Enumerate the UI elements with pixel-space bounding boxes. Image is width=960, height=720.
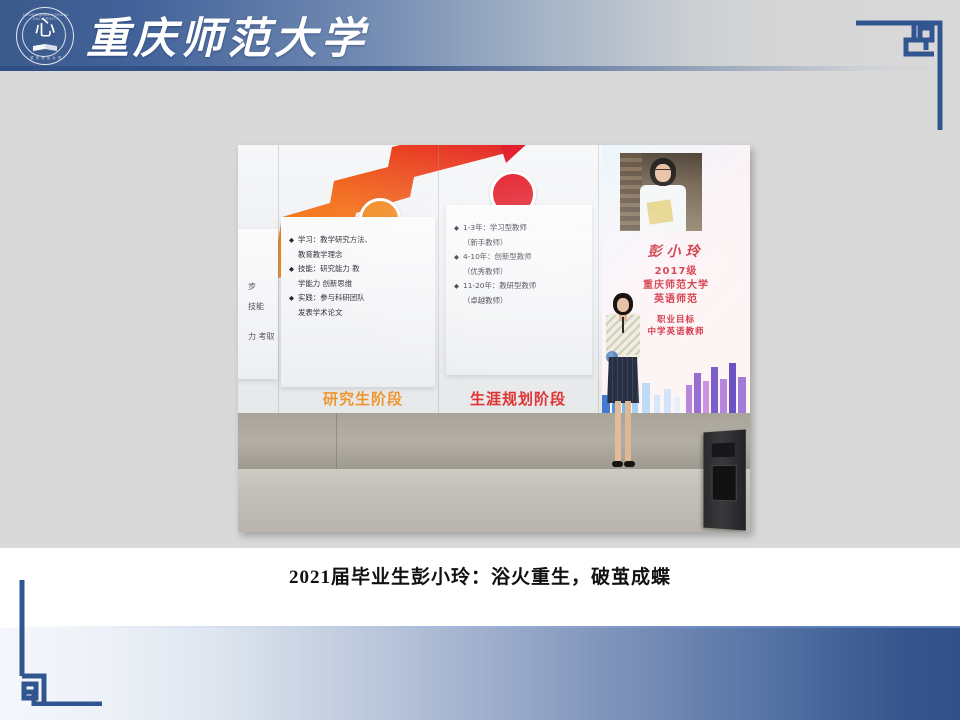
profile-name: 彭小玲: [602, 241, 750, 261]
glasses-icon: [655, 169, 671, 174]
slide-footer: [0, 628, 960, 720]
card-bullet: ◆ 技能：研究能力 教: [289, 262, 427, 276]
card-career-planning-stage: ◆ 1-3年：学习型教师 （新手教师） ◆ 4-10年：创新型教师 （优秀教师）…: [446, 205, 592, 375]
card-bullet-text: 4-10年：创新型教师: [463, 250, 584, 264]
stage-wall: [238, 413, 750, 469]
microphone-icon: [622, 317, 624, 333]
page-title: 重庆师范大学: [86, 4, 368, 66]
card-bullet-continuation: 发表学术论文: [289, 306, 427, 320]
presentation-photo: 步 技能 力 考取 ◆ 学习：教学研究方法、 教育教学理念 ◆ 技能：研究能: [238, 145, 750, 532]
stage-wall-seam: [336, 413, 337, 469]
card-graduate-stage: ◆ 学习：教学研究方法、 教育教学理念 ◆ 技能：研究能力 教 学能力 创新思维…: [281, 217, 435, 387]
diamond-bullet-icon: ◆: [289, 262, 298, 276]
greek-key-corner-icon: [854, 10, 946, 138]
speaker-port: [712, 442, 735, 457]
presentation-slide: CHONGQING NORMAL UNIVERSITY 重 庆 师 范 大 学 …: [0, 0, 960, 720]
stage-label-career: 生涯规划阶段: [470, 388, 566, 409]
card-bullet-text: 技能：研究能力 教: [298, 262, 427, 276]
profile-enrollment-year: 2017级: [602, 262, 750, 277]
held-book-icon: [647, 199, 674, 224]
diamond-bullet-icon: ◆: [289, 233, 298, 247]
bookshelf-backdrop: [620, 153, 642, 231]
presenter-leg-right: [625, 401, 631, 463]
presenter-shoe-left: [612, 461, 623, 467]
diamond-bullet-icon: ◆: [454, 221, 463, 235]
card-bullet: ◆ 11-20年：教研型教师: [454, 279, 584, 293]
stage-floor: [238, 469, 750, 532]
caption-area: 2021届毕业生彭小玲：浴火重生，破茧成蝶: [0, 554, 960, 626]
card-bullet-text: 实践：参与科研团队: [298, 291, 427, 305]
stage-label-graduate: 研究生阶段: [323, 388, 403, 409]
speaker-grill: [712, 465, 737, 502]
card-bullet: ◆ 实践：参与科研团队: [289, 291, 427, 305]
presenter-figure: [593, 293, 653, 493]
diamond-bullet-icon: ◆: [454, 250, 463, 264]
presenter-face: [617, 298, 629, 312]
slide-caption: 2021届毕业生彭小玲：浴火重生，破茧成蝶: [0, 562, 960, 589]
seal-emblem-glyph: 心: [23, 18, 67, 39]
diamond-bullet-icon: ◆: [289, 291, 298, 305]
card-bullet: ◆ 学习：教学研究方法、: [289, 233, 427, 247]
header-divider: [0, 66, 960, 71]
card-undergraduate-partial: 步 技能 力 考取: [238, 229, 278, 379]
card-bullet-text: 11-20年：教研型教师: [463, 279, 584, 293]
presenter-leg-left: [615, 401, 621, 463]
presenter-shoe-right: [624, 461, 635, 467]
card-fragment: 技能: [248, 297, 278, 317]
card-bullet-continuation: （卓越教师）: [454, 294, 584, 308]
screen-panel-seam: [438, 145, 439, 413]
card-bullet-text: 1-3年：学习型教师: [463, 221, 584, 235]
greek-key-corner-icon: [14, 576, 106, 706]
profile-university: 重庆师范大学: [602, 276, 750, 291]
stage-speaker-icon: [703, 429, 745, 530]
profile-portrait-photo: [620, 153, 702, 231]
card-bullet-text: 学习：教学研究方法、: [298, 233, 427, 247]
card-bullet-continuation: 教育教学理念: [289, 248, 427, 262]
card-bullet: ◆ 4-10年：创新型教师: [454, 250, 584, 264]
card-bullet-continuation: 学能力 创新思维: [289, 277, 427, 291]
card-bullet-continuation: （新手教师）: [454, 236, 584, 250]
diamond-bullet-icon: ◆: [454, 279, 463, 293]
stage-led-screen: 步 技能 力 考取 ◆ 学习：教学研究方法、 教育教学理念 ◆ 技能：研究能: [238, 145, 750, 413]
card-bullet-continuation: （优秀教师）: [454, 265, 584, 279]
open-book-icon: [32, 42, 58, 52]
university-seal-icon: CHONGQING NORMAL UNIVERSITY 重 庆 师 范 大 学 …: [16, 7, 74, 65]
card-fragment: 步: [248, 277, 278, 297]
card-bullet: ◆ 1-3年：学习型教师: [454, 221, 584, 235]
presenter-skirt-pleats: [607, 357, 639, 403]
card-fragment: 力 考取: [248, 327, 278, 347]
screen-panel-seam: [278, 145, 279, 413]
seal-inner-ring: 心: [22, 13, 66, 57]
